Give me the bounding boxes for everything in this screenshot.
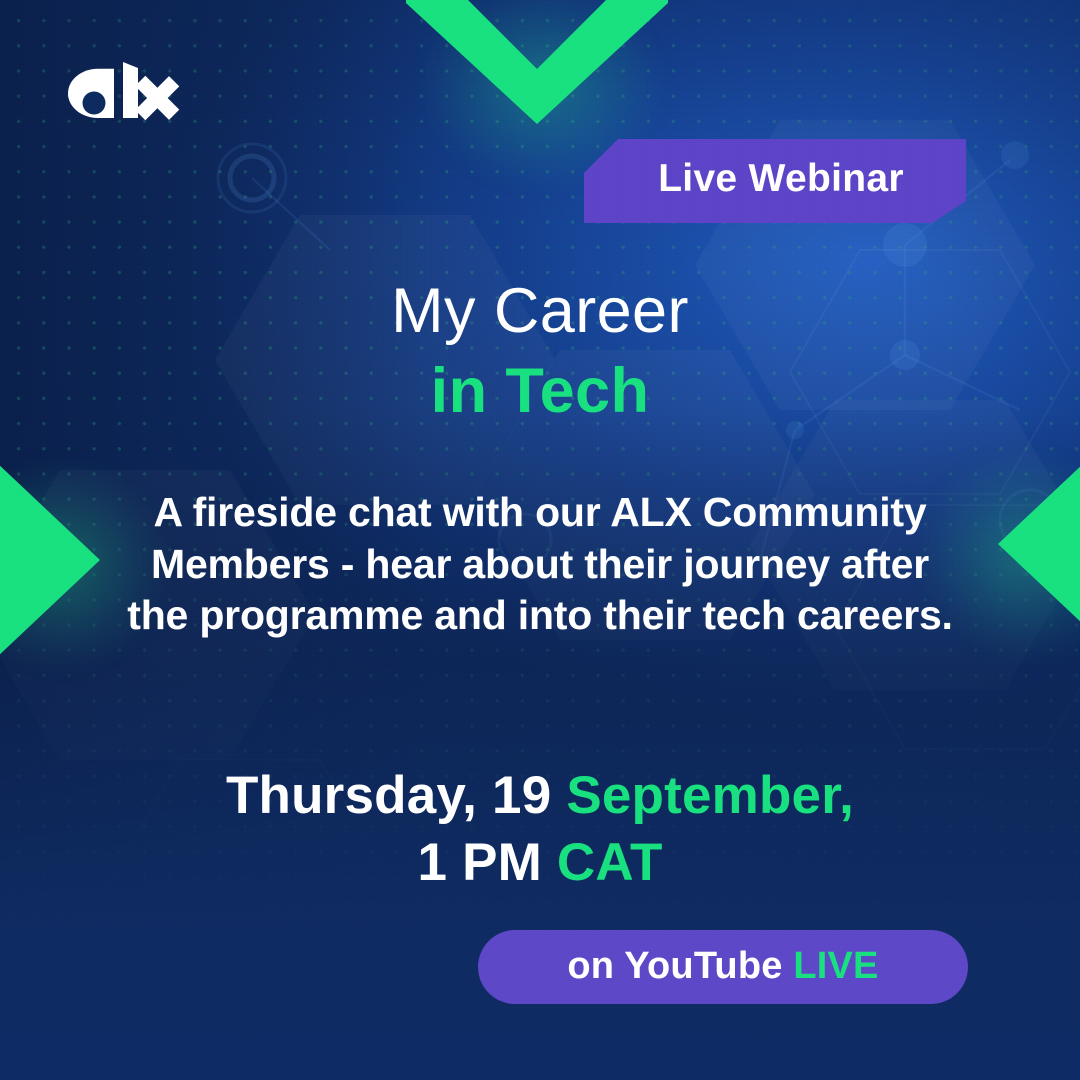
background-noise-overlay [0,0,1080,1080]
poster-canvas: Live Webinar My Career in Tech A firesid… [0,0,1080,1080]
